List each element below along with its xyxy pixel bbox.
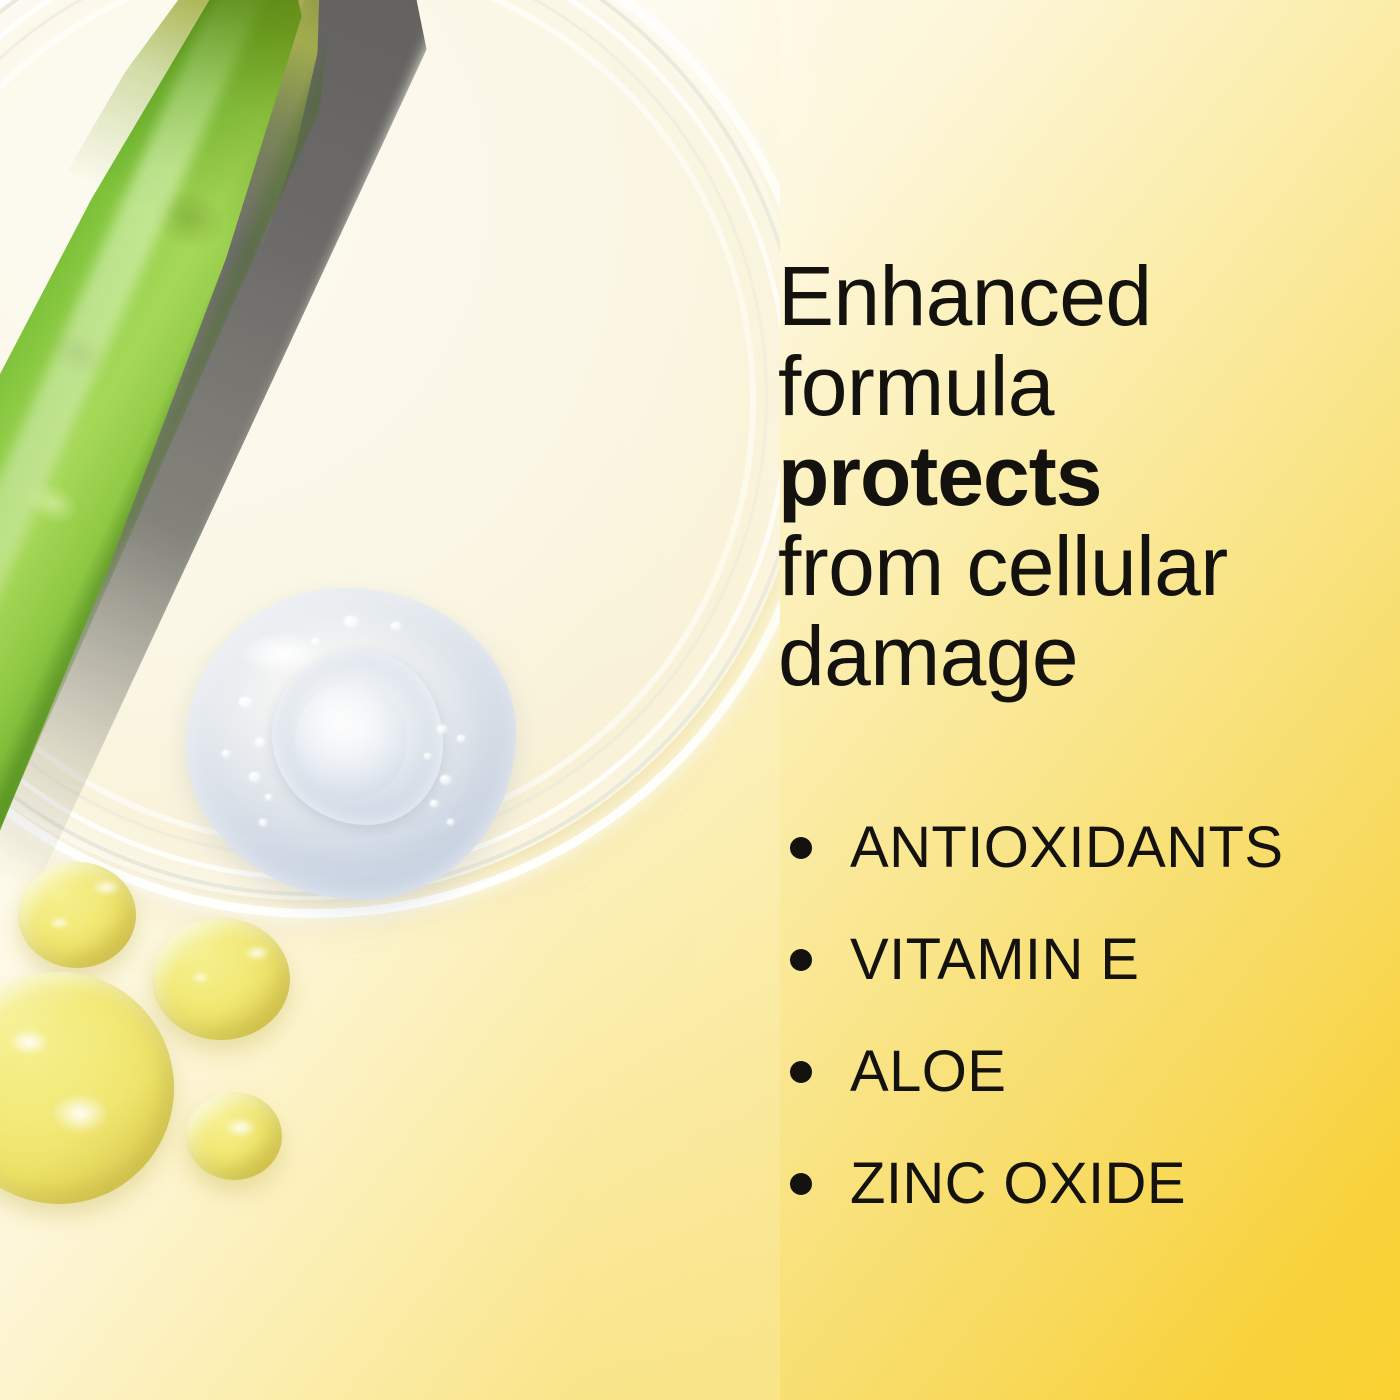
ingredient-label: ALOE [850,1043,1006,1101]
oil-droplet-rim [0,972,174,1204]
gel-bubble [222,750,230,757]
oil-droplet-upper [18,862,136,968]
headline-line: from cellular [778,522,1358,612]
list-item: ALOE [790,1016,1370,1128]
gel-inner-bubble [295,682,407,801]
list-item: ZINC OXIDE [790,1128,1370,1240]
oil-droplet-highlight [49,917,70,929]
oil-droplet-highlight [8,1028,49,1056]
list-item: VITAMIN E [790,904,1370,1016]
headline-line-emphasis: protects [778,432,1358,522]
product-feature-panel: Enhanced formula protects from cellular … [0,0,1400,1400]
ingredient-list: ANTIOXIDANTS VITAMIN E ALOE ZINC OXIDE [790,792,1370,1240]
oil-droplet-rim [18,862,136,968]
gel-bubble [265,794,272,800]
gel-bubble [259,819,267,826]
gel-bubble [239,697,252,707]
oil-droplet-highlight [50,1093,110,1135]
gel-bubble [447,819,454,825]
gel-bubble [430,800,438,807]
ingredient-label: ZINC OXIDE [850,1155,1186,1213]
gel-bubble [437,725,447,733]
oil-droplet-highlight [91,879,122,896]
headline: Enhanced formula protects from cellular … [778,252,1358,701]
headline-line: damage [778,612,1358,702]
gel-bubble [391,622,401,630]
bullet-dot-icon [790,1061,812,1083]
headline-line: formula [778,342,1358,432]
bullet-dot-icon [790,949,812,971]
bullet-dot-icon [790,1173,812,1195]
bullet-dot-icon [790,837,812,859]
gel-bubble [249,772,260,782]
ingredient-label: VITAMIN E [850,931,1139,989]
headline-line: Enhanced [778,252,1358,342]
oil-droplet-highlight [224,1117,257,1138]
gel-bubble [344,616,358,627]
gel-bubble [255,738,265,746]
gel-bubble [457,735,465,742]
oil-droplet-rim [152,918,290,1040]
ingredient-label: ANTIOXIDANTS [850,819,1283,877]
oil-droplet-right [152,918,290,1040]
product-photo [0,0,780,1400]
oil-droplet-large [0,972,174,1204]
oil-droplet-highlight [191,972,210,983]
gel-bubble [440,775,451,784]
oil-droplet-highlight [243,945,271,961]
oil-droplet-small [186,1092,282,1180]
list-item: ANTIOXIDANTS [790,792,1370,904]
